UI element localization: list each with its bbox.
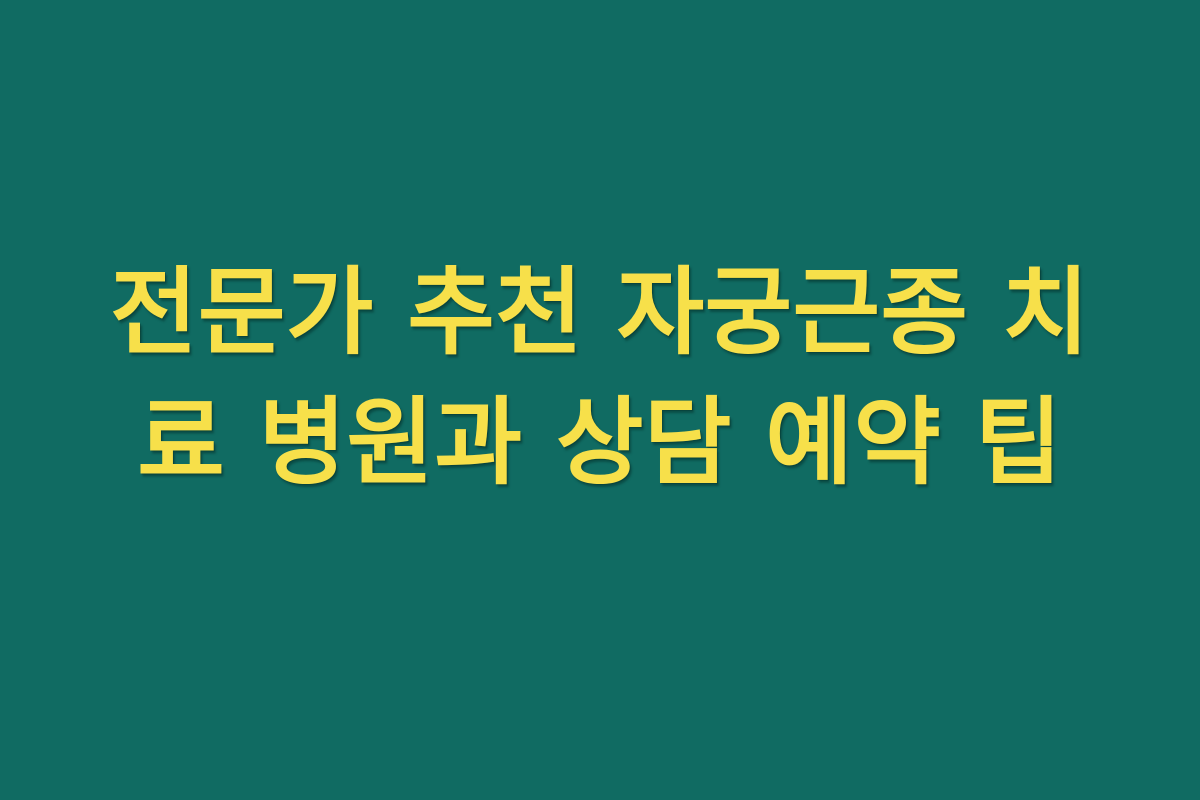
title-card-canvas: 전문가 추천 자궁근종 치 료 병원과 상담 예약 팁: [0, 0, 1200, 800]
page-title-line-1: 전문가 추천 자궁근종 치: [80, 248, 1120, 378]
page-title-line-2: 료 병원과 상담 예약 팁: [80, 378, 1120, 508]
page-title: 전문가 추천 자궁근종 치 료 병원과 상담 예약 팁: [80, 248, 1120, 508]
